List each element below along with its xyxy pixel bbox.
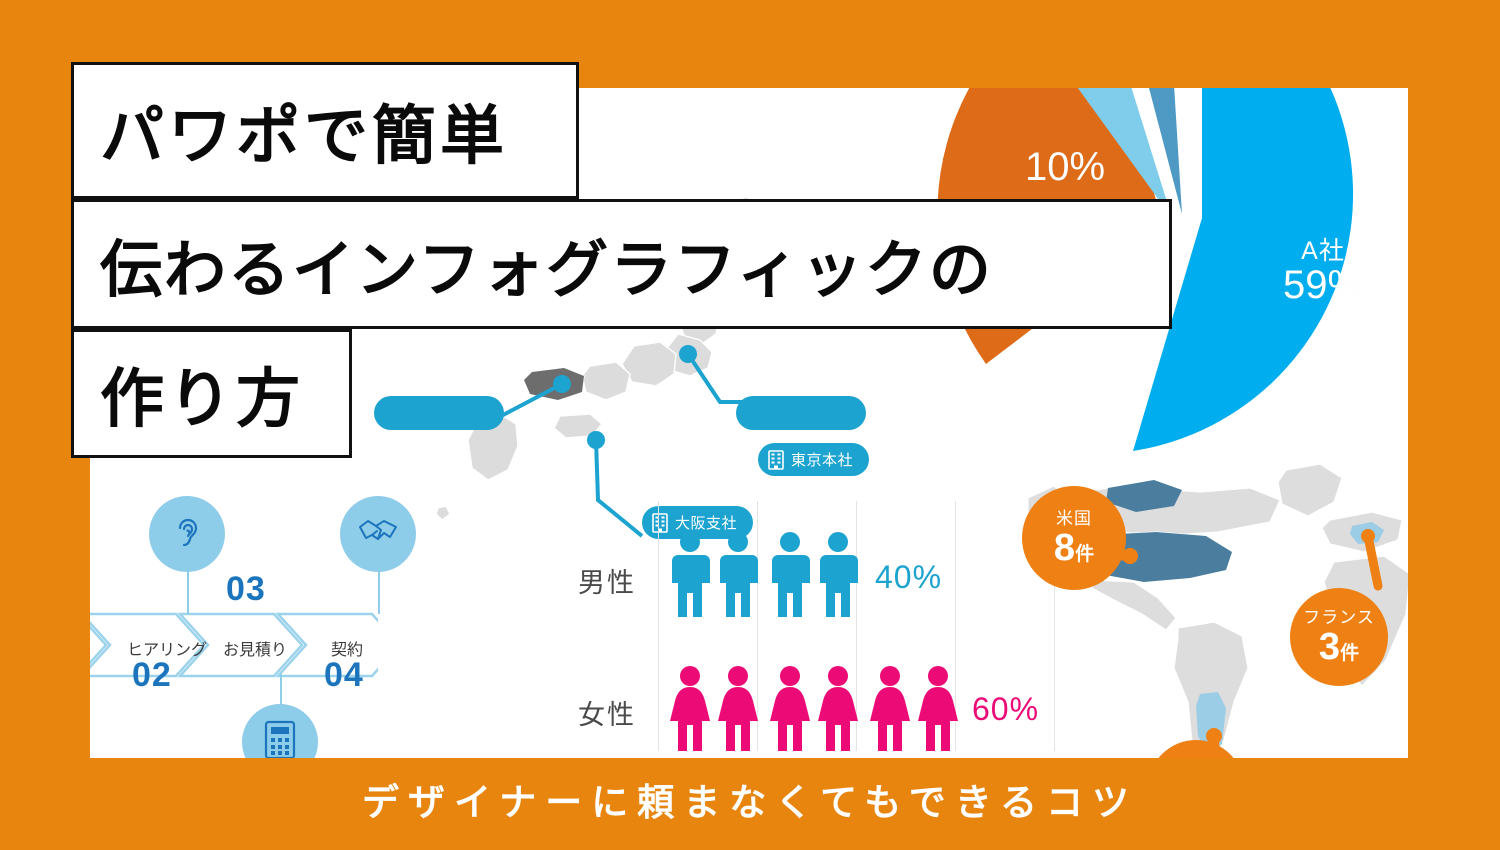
people-chart: 男性 40% 女性 60% — [570, 493, 990, 758]
title-line-3-box: 作り方 — [71, 329, 352, 458]
process-diagram: 02 03 04 ヒアリング お見積り 契約 — [90, 488, 420, 758]
title-line-1-box: パワポで簡単 — [71, 62, 579, 199]
subtitle: デザイナーに頼まなくてもできるコツ — [0, 772, 1500, 826]
people-chart-gridline — [658, 501, 659, 751]
ear-icon — [167, 512, 207, 557]
world-bubble-france[interactable]: フランス 3件 — [1290, 588, 1388, 686]
people-row-percent-male: 40% — [875, 559, 942, 596]
pie-label-a-name: A社 — [1243, 238, 1403, 264]
female-figure-icon-group — [668, 665, 968, 755]
world-bubble-france-country: フランス — [1303, 609, 1375, 626]
world-bubble-usa-country: 米国 — [1056, 510, 1092, 527]
calculator-icon — [263, 719, 297, 759]
japan-pin-tokyo-label: 東京本社 — [791, 449, 853, 470]
pie-label-a: A社 59% — [1243, 238, 1403, 306]
process-icon-circle-03[interactable] — [242, 704, 318, 758]
title-line-1-text: パワポで簡単 — [100, 85, 508, 177]
process-stem-04 — [378, 570, 380, 614]
world-bubble-france-count: 3件 — [1319, 628, 1359, 666]
japan-pin-tokyo[interactable]: 東京本社 — [758, 443, 869, 476]
process-icon-circle-04[interactable] — [340, 496, 416, 572]
process-number-02: 02 — [132, 656, 172, 695]
world-map: 米国 8件 フランス 3件 — [1000, 458, 1408, 758]
japan-pin-pill-hidden-right — [736, 396, 866, 430]
male-figure-icon-group — [668, 531, 868, 621]
world-bubble-usa[interactable]: 米国 8件 — [1022, 486, 1126, 590]
world-bubble-usa-number: 8 — [1054, 527, 1075, 569]
process-number-04: 04 — [324, 656, 364, 695]
pie-label-c-percent: 10% — [990, 146, 1140, 188]
process-icon-circle-02[interactable] — [149, 496, 225, 572]
pie-label-a-percent: 59% — [1243, 264, 1403, 306]
world-bubble-france-unit: 件 — [1340, 643, 1359, 664]
title-line-2-box: 伝わるインフォグラフィックの — [71, 199, 1172, 329]
people-row-label-female: 女性 — [578, 693, 636, 732]
title-line-2-text: 伝わるインフォグラフィックの — [100, 219, 993, 309]
process-label-04[interactable]: 契約 — [331, 636, 363, 660]
process-label-03[interactable]: お見積り — [223, 636, 287, 660]
world-bubble-usa-count: 8件 — [1054, 529, 1094, 567]
process-number-03: 03 — [226, 570, 266, 609]
handshake-icon — [356, 512, 400, 557]
japan-pin-pill-hidden-left — [374, 396, 504, 430]
people-row-label-male: 男性 — [578, 561, 636, 600]
world-bubble-usa-unit: 件 — [1075, 544, 1094, 565]
title-line-3-text: 作り方 — [100, 348, 304, 440]
pie-label-c: 10% — [990, 146, 1140, 188]
process-stem-02 — [187, 570, 189, 614]
building-icon — [768, 450, 784, 470]
world-bubble-france-number: 3 — [1319, 626, 1340, 668]
process-label-02[interactable]: ヒアリング — [127, 636, 207, 660]
